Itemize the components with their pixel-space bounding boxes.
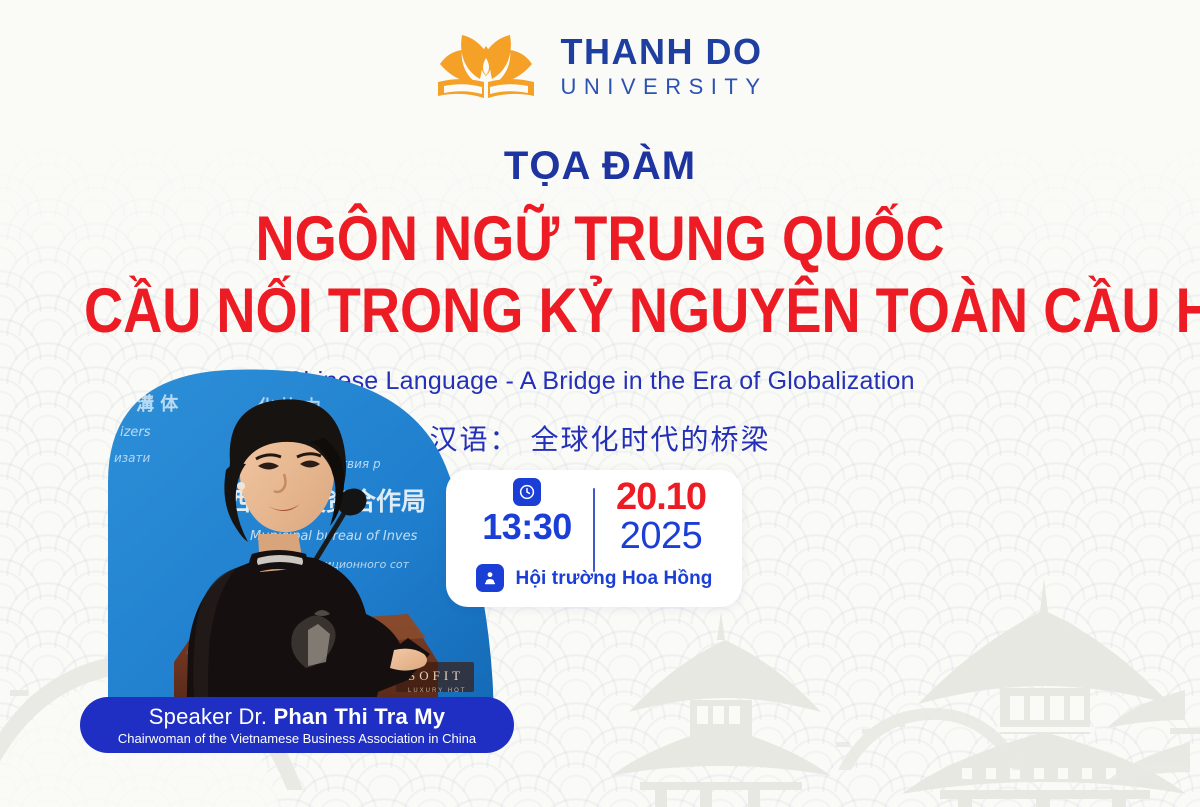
svg-text:izers: izers [120,425,151,440]
brand-name: THANH DO [560,34,767,70]
event-info-card: 13:30 20.10 2025 Hội trường Hoa Hồng [446,470,742,607]
svg-text:溝 体: 溝 体 [136,393,179,415]
brand-subname: UNIVERSITY [560,76,767,98]
svg-text:LUXURY HOT: LUXURY HOT [408,688,466,694]
event-date-year: 2025 [620,517,703,557]
time-block: 13:30 [461,478,593,546]
brand-logo: THANH DO UNIVERSITY [0,32,1200,100]
event-date-day: 20.10 [616,478,706,517]
svg-text:изати: изати [114,451,151,465]
speaker-photo: 溝 体 化 协 力 izers n Council for изати мите… [108,362,494,728]
speaker-prefix: Speaker Dr. [149,704,274,729]
event-venue: Hội trường Hoa Hồng [516,568,713,590]
event-time: 13:30 [482,508,572,546]
headline-line-2: CẦU NỐI TRONG KỶ NGUYÊN TOÀN CẦU HOÁ [84,275,1116,347]
event-kicker: TỌA ĐÀM [0,144,1200,189]
info-card-divider [593,488,595,572]
svg-text:SOFIT: SOFIT [408,668,464,683]
clock-icon [513,478,541,506]
info-card-top-row: 13:30 20.10 2025 [446,478,742,572]
pagoda-silhouette-left [611,612,831,807]
speaker-name: Phan Thi Tra My [273,704,445,729]
lotus-book-logo-icon [432,32,540,100]
headline-line-1: NGÔN NGỮ TRUNG QUỐC [84,203,1116,275]
location-pin-icon [476,564,504,592]
poster-canvas: THANH DO UNIVERSITY TỌA ĐÀM NGÔN NGỮ TRU… [0,0,1200,807]
speaker-name-line: Speaker Dr. Phan Thi Tra My [149,704,445,729]
date-block: 20.10 2025 [595,478,727,557]
speaker-name-banner: Speaker Dr. Phan Thi Tra My Chairwoman o… [80,697,514,753]
venue-row: Hội trường Hoa Hồng [446,564,742,594]
speaker-role: Chairwoman of the Vietnamese Business As… [118,731,476,747]
speaker-photo-image: 溝 体 化 协 力 izers n Council for изати мите… [108,362,494,728]
